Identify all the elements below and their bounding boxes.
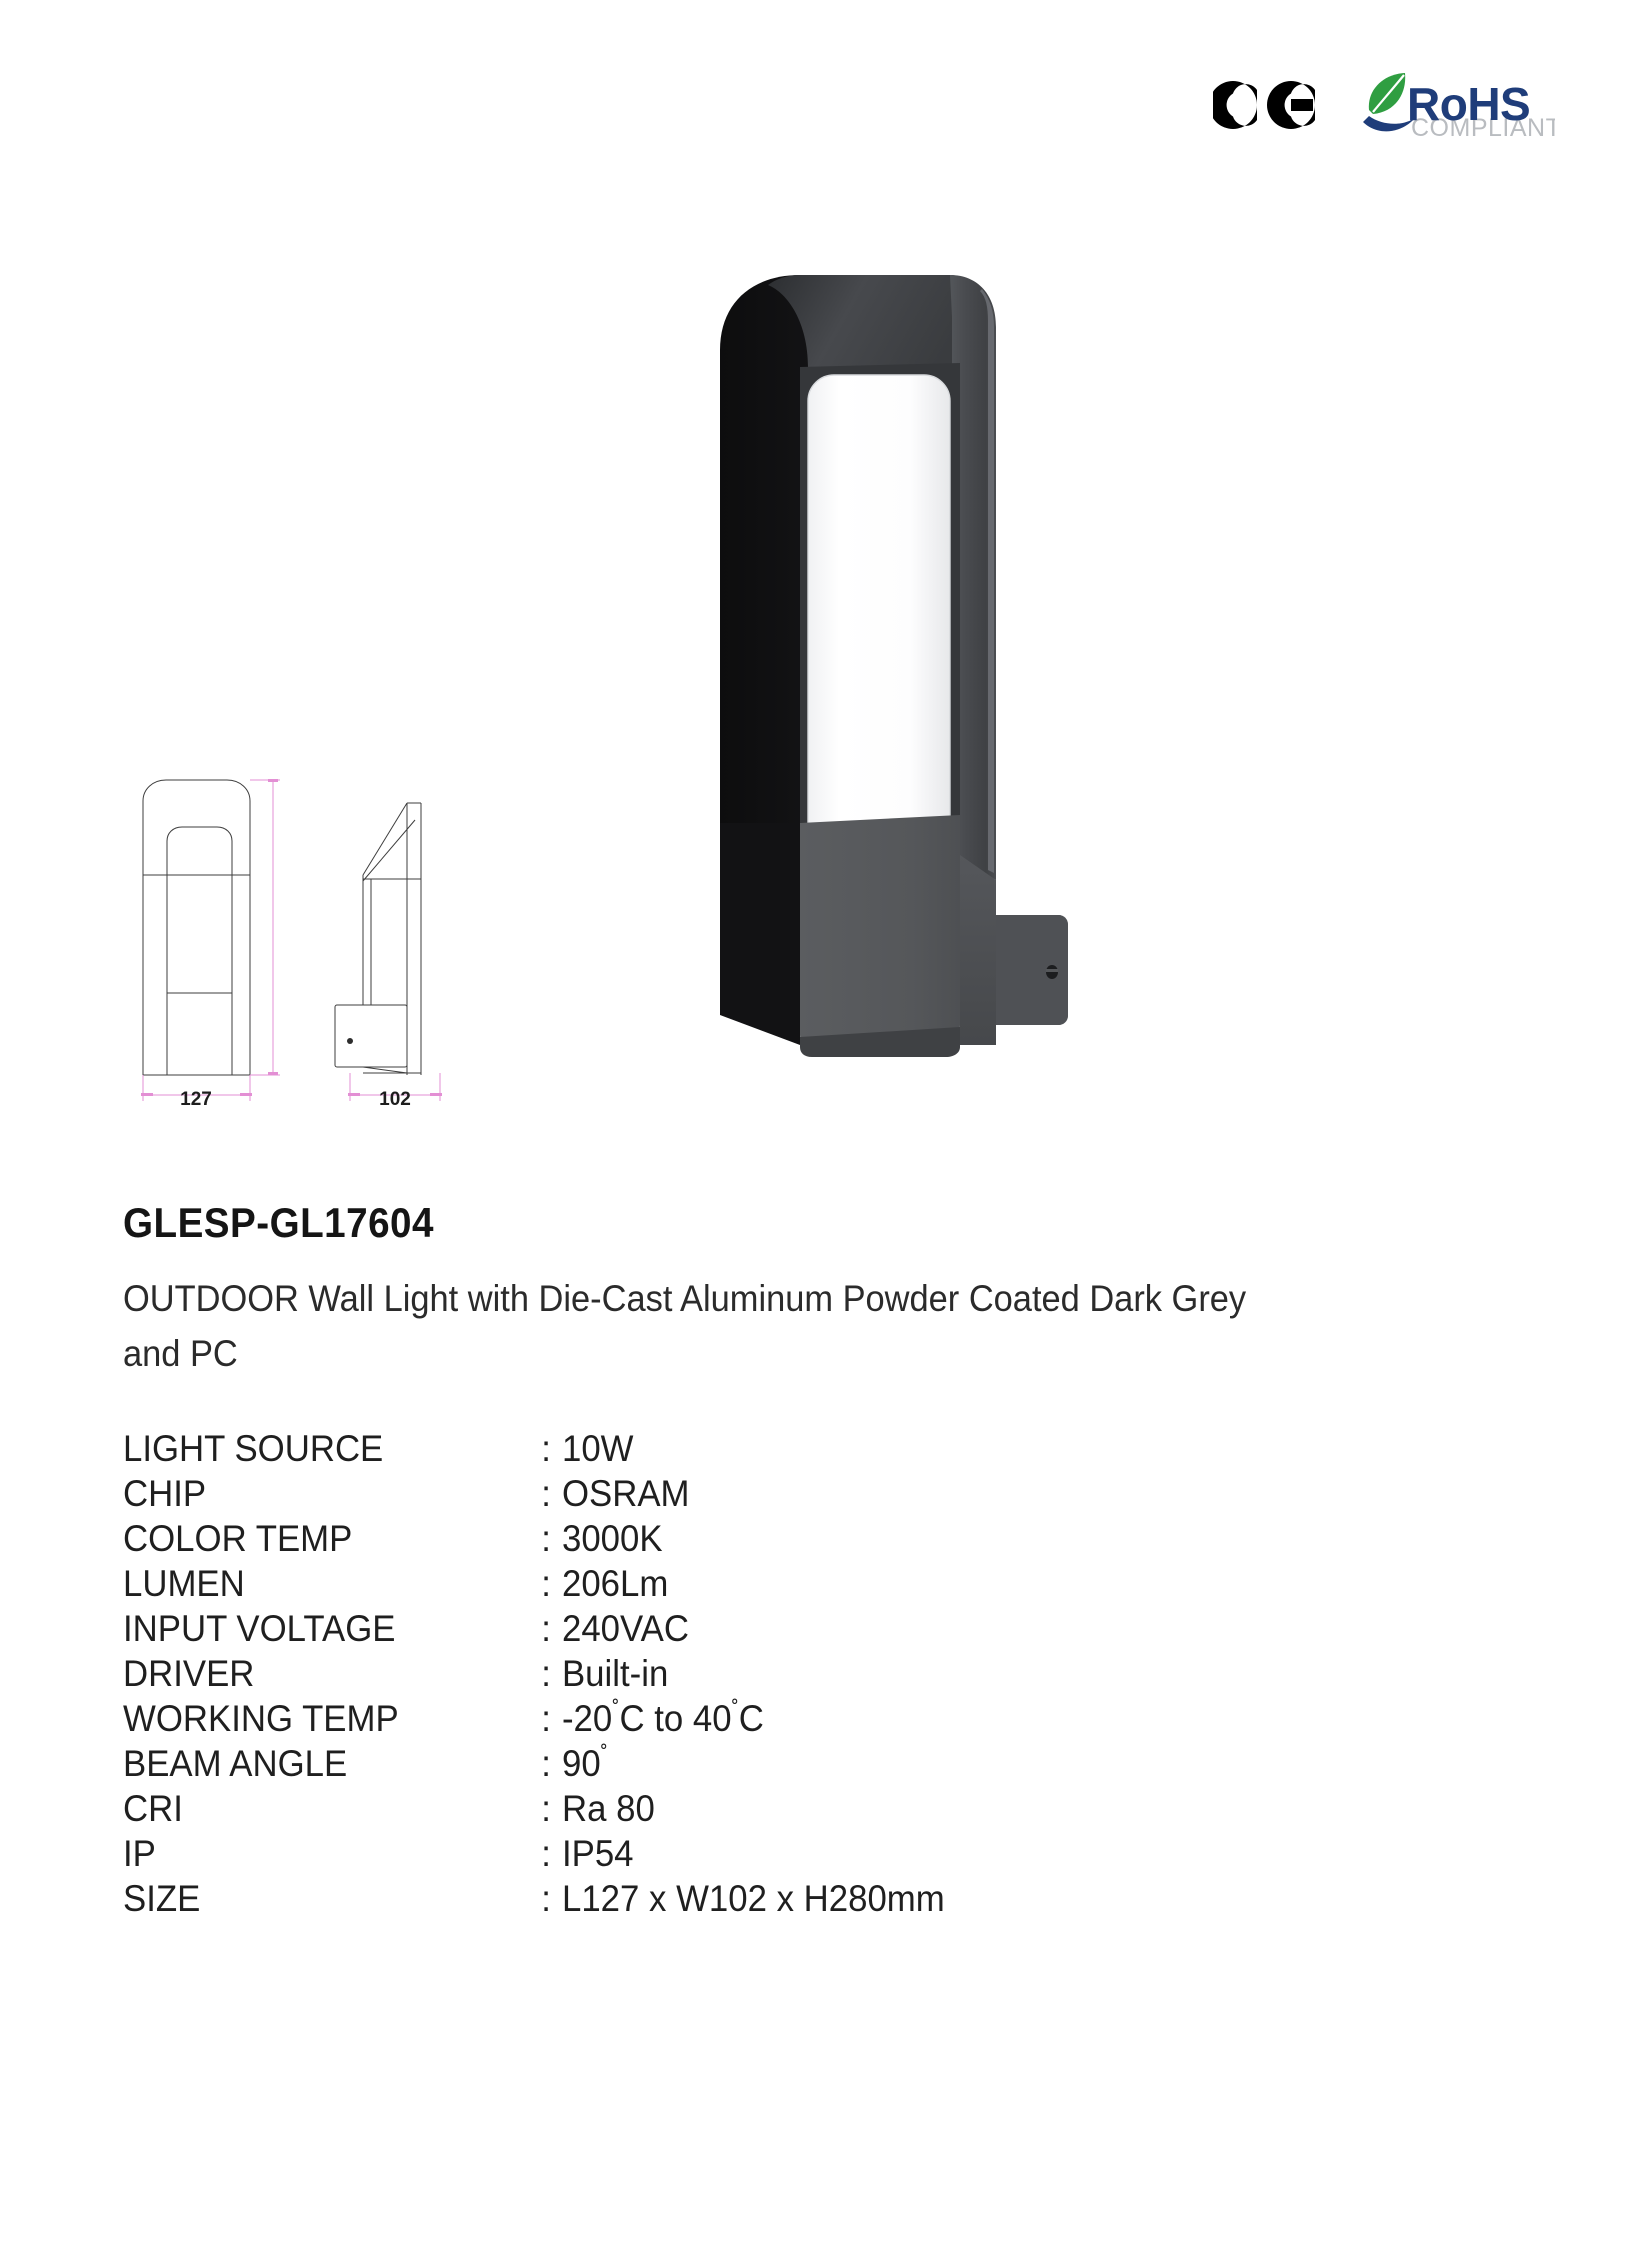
spec-label: BEAM ANGLE — [123, 1743, 541, 1788]
spec-value: :Built-in — [541, 1653, 1199, 1698]
spec-label: LIGHT SOURCE — [123, 1428, 541, 1473]
spec-value-text: 10W — [562, 1428, 634, 1469]
spec-colon: : — [541, 1563, 562, 1605]
spec-value: :Ra 80 — [541, 1788, 1199, 1833]
spec-value-text: OSRAM — [562, 1473, 690, 1514]
spec-label: IP — [123, 1833, 541, 1878]
side-view-drawing — [335, 803, 421, 1075]
spec-row: COLOR TEMP:3000K — [123, 1518, 1199, 1563]
spec-label: DRIVER — [123, 1653, 541, 1698]
spec-colon: : — [541, 1878, 562, 1920]
spec-colon: : — [541, 1608, 562, 1650]
product-photo — [660, 255, 1130, 1065]
spec-colon: : — [541, 1833, 562, 1875]
spec-label: CHIP — [123, 1473, 541, 1518]
spec-row: LIGHT SOURCE:10W — [123, 1428, 1199, 1473]
spec-colon: : — [541, 1518, 562, 1560]
front-view-drawing — [143, 780, 250, 1075]
spec-value: :L127 x W102 x H280mm — [541, 1878, 1199, 1923]
spec-row: INPUT VOLTAGE:240VAC — [123, 1608, 1199, 1653]
spec-label: INPUT VOLTAGE — [123, 1608, 541, 1653]
dimension-width-label: 127 — [180, 1089, 212, 1110]
spec-colon: : — [541, 1698, 562, 1740]
ce-mark-icon — [1213, 73, 1325, 137]
spec-value-text: -20˚C to 40˚C — [562, 1698, 764, 1739]
spec-value-text: L127 x W102 x H280mm — [562, 1878, 945, 1919]
spec-label: COLOR TEMP — [123, 1518, 541, 1563]
spec-value: :240VAC — [541, 1608, 1199, 1653]
spec-value-text: 240VAC — [562, 1608, 689, 1649]
product-description: OUTDOOR Wall Light with Die-Cast Aluminu… — [123, 1272, 1286, 1382]
specifications-table: LIGHT SOURCE:10WCHIP:OSRAMCOLOR TEMP:300… — [123, 1428, 1199, 1923]
spec-value: :10W — [541, 1428, 1199, 1473]
spec-row: DRIVER:Built-in — [123, 1653, 1199, 1698]
spec-value-text: IP54 — [562, 1833, 634, 1874]
certification-logos: COMPLIANT RoHS — [1213, 68, 1555, 142]
spec-value: :3000K — [541, 1518, 1199, 1563]
spec-value-text: Built-in — [562, 1653, 668, 1694]
spec-colon: : — [541, 1743, 562, 1785]
spec-row: IP:IP54 — [123, 1833, 1199, 1878]
spec-colon: : — [541, 1653, 562, 1695]
spec-row: LUMEN:206Lm — [123, 1563, 1199, 1608]
spec-label: LUMEN — [123, 1563, 541, 1608]
spec-label: WORKING TEMP — [123, 1698, 541, 1743]
spec-value: :OSRAM — [541, 1473, 1199, 1518]
spec-row: BEAM ANGLE:90˚ — [123, 1743, 1199, 1788]
spec-value: :90˚ — [541, 1743, 1199, 1788]
spec-value-text: 206Lm — [562, 1563, 668, 1604]
spec-row: CRI:Ra 80 — [123, 1788, 1199, 1833]
spec-colon: : — [541, 1428, 562, 1470]
product-info-block: GLESP-GL17604 OUTDOOR Wall Light with Di… — [123, 1200, 1523, 1923]
spec-colon: : — [541, 1473, 562, 1515]
spec-colon: : — [541, 1788, 562, 1830]
spec-row: CHIP:OSRAM — [123, 1473, 1199, 1518]
dimension-depth-label: 102 — [379, 1089, 411, 1110]
svg-text:RoHS: RoHS — [1407, 78, 1530, 130]
spec-value-text: 3000K — [562, 1518, 663, 1559]
spec-row: SIZE:L127 x W102 x H280mm — [123, 1878, 1199, 1923]
spec-label: SIZE — [123, 1878, 541, 1923]
specifications-body: LIGHT SOURCE:10WCHIP:OSRAMCOLOR TEMP:300… — [123, 1428, 1199, 1923]
technical-dimension-drawings: 280 127 102 — [110, 775, 470, 1115]
spec-label: CRI — [123, 1788, 541, 1833]
product-code-title: GLESP-GL17604 — [123, 1200, 1411, 1246]
spec-value-text: Ra 80 — [562, 1788, 655, 1829]
spec-value-text: 90˚ — [562, 1743, 608, 1784]
spec-value: :-20˚C to 40˚C — [541, 1698, 1199, 1743]
rohs-compliant-logo: COMPLIANT RoHS — [1359, 68, 1555, 142]
spec-row: WORKING TEMP:-20˚C to 40˚C — [123, 1698, 1199, 1743]
spec-value: :IP54 — [541, 1833, 1199, 1878]
spec-value: :206Lm — [541, 1563, 1199, 1608]
